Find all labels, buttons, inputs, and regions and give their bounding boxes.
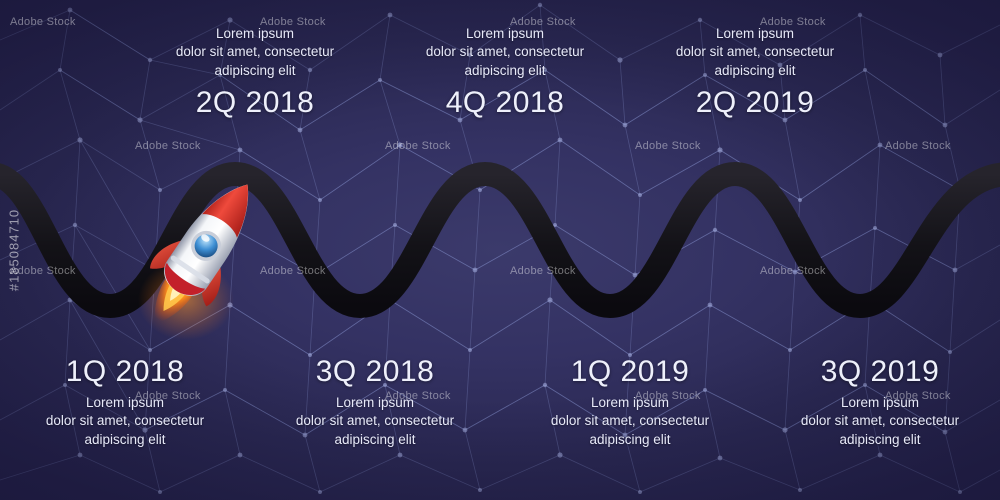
milestone-text-line1: Lorem ipsum xyxy=(750,394,1000,412)
milestone-text-line3: adipiscing elit xyxy=(375,62,635,80)
milestone-text-line2: dolor sit amet, consectetur xyxy=(125,43,385,61)
rocket-icon xyxy=(130,160,280,340)
milestone-q3-2018[interactable]: 3Q 2018 Lorem ipsum dolor sit amet, cons… xyxy=(245,355,505,449)
milestone-text: Lorem ipsum dolor sit amet, consectetur … xyxy=(625,25,885,80)
milestone-text-line3: adipiscing elit xyxy=(125,62,385,80)
milestone-text-line3: adipiscing elit xyxy=(625,62,885,80)
milestone-text-line1: Lorem ipsum xyxy=(375,25,635,43)
milestone-text-line1: Lorem ipsum xyxy=(500,394,760,412)
milestone-text-line3: adipiscing elit xyxy=(750,431,1000,449)
milestone-text-line1: Lorem ipsum xyxy=(0,394,255,412)
milestone-text-line2: dolor sit amet, consectetur xyxy=(625,43,885,61)
milestone-q2-2019[interactable]: Lorem ipsum dolor sit amet, consectetur … xyxy=(625,25,885,119)
milestone-text-line3: adipiscing elit xyxy=(500,431,760,449)
milestone-text-line1: Lorem ipsum xyxy=(125,25,385,43)
milestone-text-line2: dolor sit amet, consectetur xyxy=(245,412,505,430)
milestone-text-line3: adipiscing elit xyxy=(245,431,505,449)
milestone-title: 3Q 2019 xyxy=(750,355,1000,388)
milestone-text-line2: dolor sit amet, consectetur xyxy=(0,412,255,430)
milestone-q1-2019[interactable]: 1Q 2019 Lorem ipsum dolor sit amet, cons… xyxy=(500,355,760,449)
milestone-text: Lorem ipsum dolor sit amet, consectetur … xyxy=(125,25,385,80)
milestone-q4-2018[interactable]: Lorem ipsum dolor sit amet, consectetur … xyxy=(375,25,635,119)
milestone-text-line1: Lorem ipsum xyxy=(245,394,505,412)
milestone-q2-2018[interactable]: Lorem ipsum dolor sit amet, consectetur … xyxy=(125,25,385,119)
milestone-q3-2019[interactable]: 3Q 2019 Lorem ipsum dolor sit amet, cons… xyxy=(750,355,1000,449)
milestone-title: 2Q 2019 xyxy=(625,86,885,119)
milestone-text: Lorem ipsum dolor sit amet, consectetur … xyxy=(245,394,505,449)
milestone-title: 2Q 2018 xyxy=(125,86,385,119)
milestone-title: 1Q 2018 xyxy=(0,355,255,388)
milestone-text-line2: dolor sit amet, consectetur xyxy=(500,412,760,430)
milestone-title: 3Q 2018 xyxy=(245,355,505,388)
milestone-title: 1Q 2019 xyxy=(500,355,760,388)
milestone-title: 4Q 2018 xyxy=(375,86,635,119)
milestone-text-line1: Lorem ipsum xyxy=(625,25,885,43)
milestone-text: Lorem ipsum dolor sit amet, consectetur … xyxy=(500,394,760,449)
milestone-text-line3: adipiscing elit xyxy=(0,431,255,449)
milestone-text: Lorem ipsum dolor sit amet, consectetur … xyxy=(0,394,255,449)
infographic-canvas: Lorem ipsum dolor sit amet, consectetur … xyxy=(0,0,1000,500)
milestone-text-line2: dolor sit amet, consectetur xyxy=(750,412,1000,430)
milestone-text: Lorem ipsum dolor sit amet, consectetur … xyxy=(750,394,1000,449)
milestone-text-line2: dolor sit amet, consectetur xyxy=(375,43,635,61)
milestone-q1-2018[interactable]: 1Q 2018 Lorem ipsum dolor sit amet, cons… xyxy=(0,355,255,449)
milestone-text: Lorem ipsum dolor sit amet, consectetur … xyxy=(375,25,635,80)
